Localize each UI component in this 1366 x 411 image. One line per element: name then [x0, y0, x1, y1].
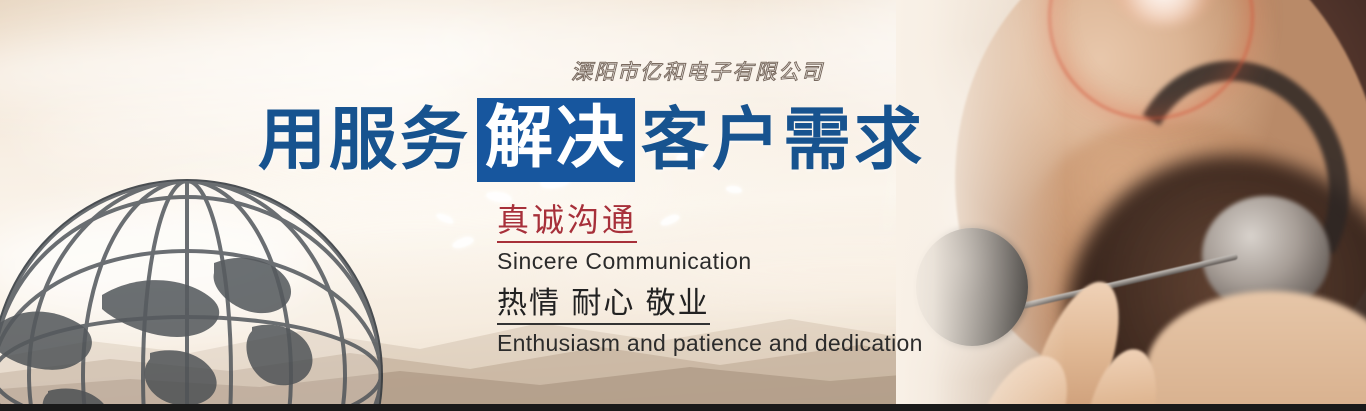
headline-highlight: 解决 — [477, 98, 635, 182]
slogan-2-cn-wrap: 热情 耐心 敬业 — [497, 276, 923, 324]
slogan-block: 真诚沟通 Sincere Communication 热情 耐心 敬业 Enth… — [497, 202, 923, 358]
hero-banner: 溧阳市亿和电子有限公司 用服务 解决 客户需求 真诚沟通 Sincere Com… — [0, 0, 1366, 411]
slogan-2-cn: 热情 耐心 敬业 — [497, 286, 710, 324]
bottom-strip — [0, 404, 1366, 411]
headline: 用服务 解决 客户需求 — [258, 98, 925, 182]
slogan-1-cn-wrap: 真诚沟通 — [497, 202, 923, 243]
slogan-1-cn: 真诚沟通 — [497, 202, 637, 243]
headline-before: 用服务 — [258, 106, 471, 174]
headset-agent-photo — [896, 0, 1366, 405]
slogan-1-en: Sincere Communication — [497, 247, 923, 276]
company-name: 溧阳市亿和电子有限公司 — [571, 56, 824, 86]
headline-after: 客户需求 — [641, 106, 925, 174]
wireframe-globe-icon — [0, 177, 422, 411]
slogan-2-en: Enthusiasm and patience and dedication — [497, 329, 923, 358]
